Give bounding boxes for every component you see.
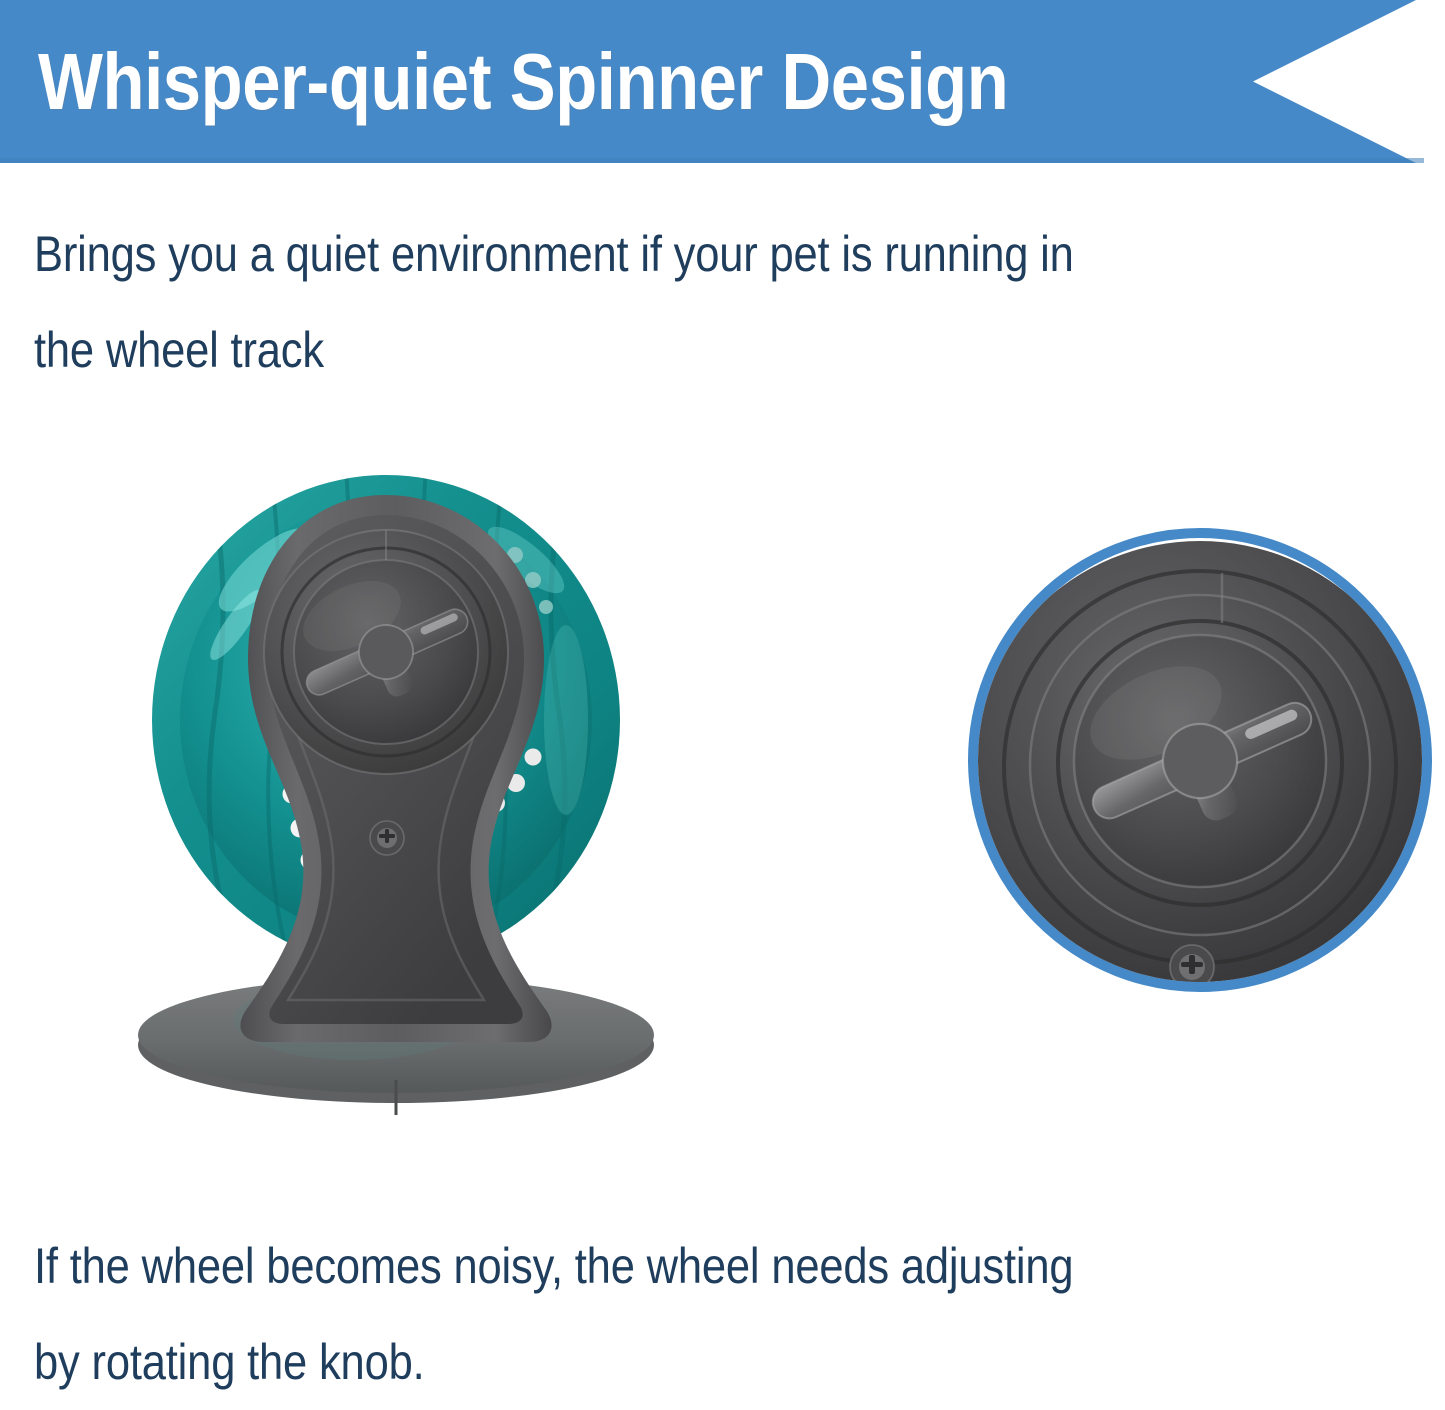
callout-content xyxy=(960,515,1445,1035)
page-title: Whisper-quiet Spinner Design xyxy=(38,26,1070,138)
header-banner: Whisper-quiet Spinner Design xyxy=(0,0,1445,168)
product-photo-main xyxy=(96,420,736,1160)
stand-screw xyxy=(370,821,404,855)
outro-paragraph: If the wheel becomes noisy, the wheel ne… xyxy=(34,1218,1445,1410)
banner-bottom-shade xyxy=(0,158,1424,164)
intro-line-1: Brings you a quiet environment if your p… xyxy=(34,206,1445,302)
outro-line-1: If the wheel becomes noisy, the wheel ne… xyxy=(34,1218,1445,1314)
adjustment-knob-assembly[interactable] xyxy=(264,530,508,774)
wheel-stand xyxy=(240,495,551,1042)
intro-line-2: the wheel track xyxy=(34,302,1445,398)
intro-paragraph: Brings you a quiet environment if your p… xyxy=(34,206,1445,398)
outro-line-2: by rotating the knob. xyxy=(34,1314,1445,1410)
knob-detail-callout xyxy=(960,515,1445,1035)
